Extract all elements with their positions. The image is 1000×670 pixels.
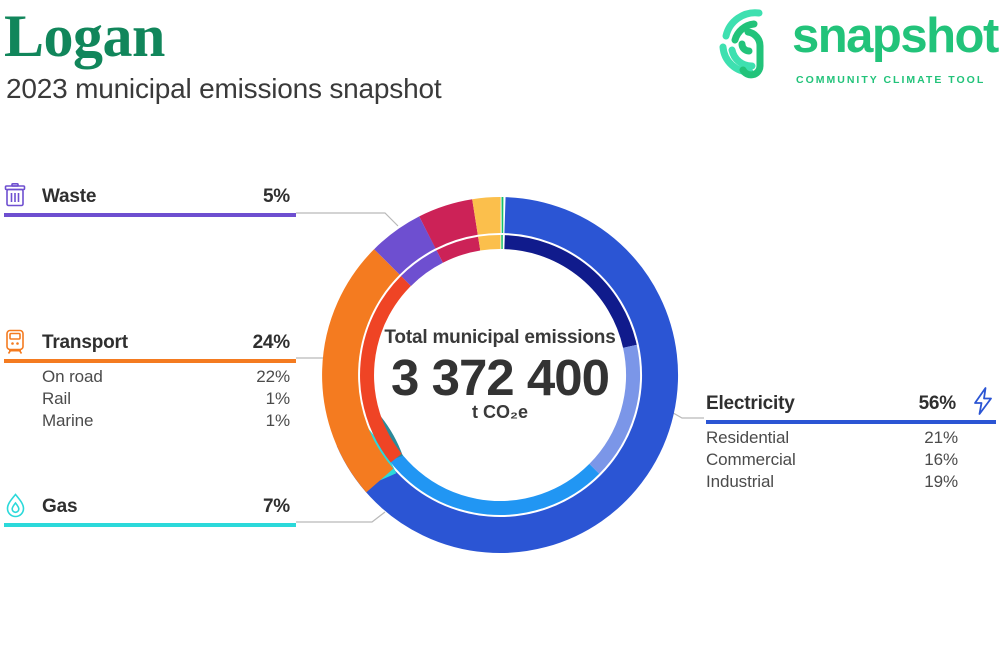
sub-label-on-road: On road	[42, 367, 103, 387]
emissions-snapshot-page: Logan 2023 municipal emissions snapshot …	[0, 0, 1000, 670]
arc-agriculture	[475, 215, 501, 217]
sub-label-marine: Marine	[42, 411, 93, 431]
legend-label-waste: Waste	[42, 186, 96, 208]
flame-icon	[4, 493, 28, 519]
sub-pct-residential: 21%	[898, 428, 958, 448]
donut-center-value: 3 372 400	[350, 348, 650, 407]
legend-group-transport[interactable]: Transport 24% On road 22% Rail 1% Marine…	[4, 331, 296, 359]
legend-group-gas[interactable]: Gas 7%	[4, 495, 296, 523]
trash-icon	[4, 183, 28, 209]
legend-bar-gas	[4, 523, 296, 527]
legend-pct-transport: 24%	[253, 332, 290, 354]
sub-pct-industrial: 19%	[898, 472, 958, 492]
logo-wordmark: snapshot	[792, 10, 998, 62]
legend-pct-electricity: 56%	[919, 393, 956, 415]
page-title: Logan	[4, 4, 165, 68]
spiral-swirl-icon	[712, 6, 784, 80]
sub-label-industrial: Industrial	[706, 472, 774, 492]
legend-label-transport: Transport	[42, 332, 128, 354]
legend-group-waste[interactable]: Waste 5%	[4, 185, 296, 213]
legend-pct-gas: 7%	[263, 496, 290, 518]
arc-other-inner	[440, 244, 480, 257]
arc-waste	[387, 232, 428, 262]
sub-label-residential: Residential	[706, 428, 789, 448]
sub-label-commercial: Commercial	[706, 450, 796, 470]
snapshot-logo: snapshot COMMUNITY CLIMATE TOOL	[700, 4, 1000, 90]
legend-label-gas: Gas	[42, 496, 77, 518]
donut-center-unit: t CO₂e	[370, 402, 630, 423]
lightning-bolt-icon	[970, 386, 996, 416]
legend-bar-transport	[4, 359, 296, 363]
sub-pct-on-road: 22%	[230, 367, 290, 387]
sub-pct-commercial: 16%	[898, 450, 958, 470]
legend-bar-electricity	[706, 420, 996, 424]
sub-pct-marine: 1%	[230, 411, 290, 431]
arc-other	[427, 217, 475, 232]
arc-agriculture-inner	[479, 242, 500, 244]
sub-pct-rail: 1%	[230, 389, 290, 409]
page-subtitle: 2023 municipal emissions snapshot	[6, 72, 441, 106]
legend-label-electricity: Electricity	[706, 393, 795, 415]
legend-bar-waste	[4, 213, 296, 217]
logo-tagline: COMMUNITY CLIMATE TOOL	[796, 74, 985, 86]
tram-icon	[4, 329, 28, 355]
sub-label-rail: Rail	[42, 389, 71, 409]
donut-center-label: Total municipal emissions	[370, 327, 630, 349]
legend-pct-waste: 5%	[263, 186, 290, 208]
legend-group-electricity[interactable]: Electricity 56% Residential 21% Commerci…	[704, 392, 996, 420]
